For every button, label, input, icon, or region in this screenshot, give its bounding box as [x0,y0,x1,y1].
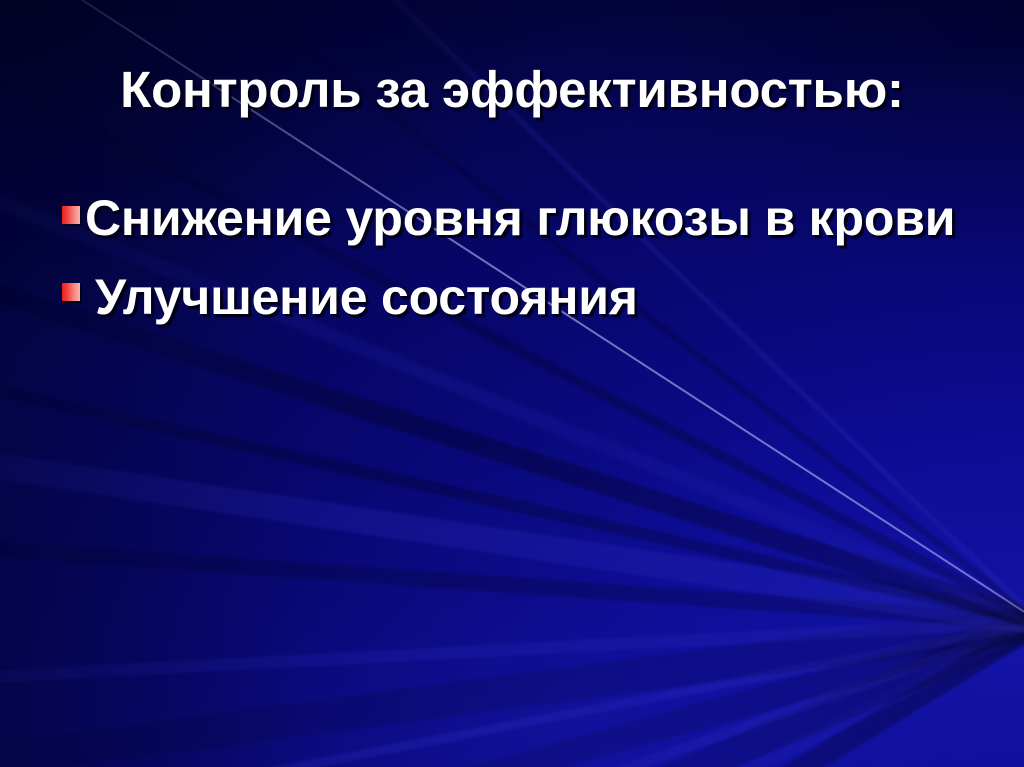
list-item: Снижение уровня глюкозы в крови [62,190,962,247]
red-gradient-square-bullet-icon [62,206,80,224]
red-gradient-square-bullet-icon [62,283,80,301]
list-item: Улучшение состояния [62,269,962,326]
slide-title: Контроль за эффективностью: [0,63,1024,117]
bullet-list: Снижение уровня глюкозы в крови Улучшени… [62,190,962,348]
bullet-item-label: Улучшение состояния [85,269,638,326]
presentation-slide: Контроль за эффективностью: Снижение уро… [0,0,1024,767]
slide-content: Контроль за эффективностью: Снижение уро… [0,0,1024,767]
bullet-item-label: Снижение уровня глюкозы в крови [85,190,955,247]
